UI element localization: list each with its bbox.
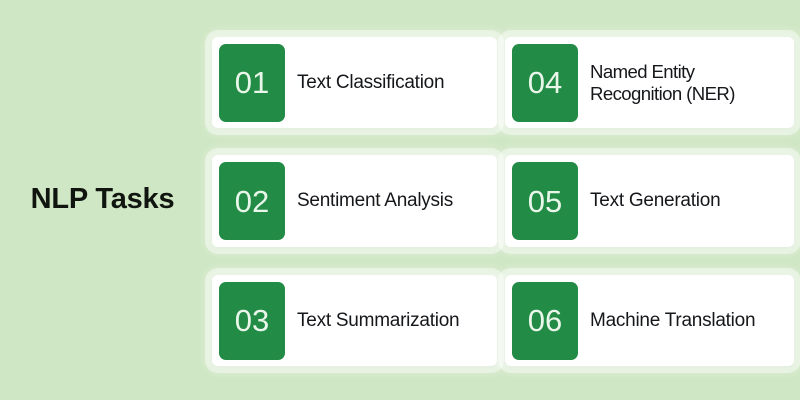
task-card-06[interactable]: 06 Machine Translation: [505, 275, 794, 366]
task-number-badge-03: 03: [219, 282, 285, 360]
task-number-badge-01: 01: [219, 44, 285, 122]
task-card-03[interactable]: 03 Text Summarization: [212, 275, 497, 366]
task-label-05: Text Generation: [578, 190, 794, 212]
task-label-04: Named Entity Recognition (NER): [578, 61, 794, 103]
task-number-badge-05: 05: [512, 162, 578, 240]
task-label-06: Machine Translation: [578, 310, 794, 332]
task-label-02: Sentiment Analysis: [285, 190, 497, 212]
nlp-tasks-infographic: NLP Tasks 01 Text Classification 02 Sent…: [0, 0, 800, 400]
task-number-badge-04: 04: [512, 44, 578, 122]
task-label-01: Text Classification: [285, 72, 497, 94]
task-card-grid: 01 Text Classification 02 Sentiment Anal…: [206, 30, 800, 375]
task-number-badge-02: 02: [219, 162, 285, 240]
task-number-badge-06: 06: [512, 282, 578, 360]
task-card-04[interactable]: 04 Named Entity Recognition (NER): [505, 37, 794, 128]
task-card-01[interactable]: 01 Text Classification: [212, 37, 497, 128]
title-block: NLP Tasks: [0, 0, 205, 400]
task-card-05[interactable]: 05 Text Generation: [505, 155, 794, 247]
task-card-02[interactable]: 02 Sentiment Analysis: [212, 155, 497, 247]
task-label-03: Text Summarization: [285, 310, 497, 332]
page-title: NLP Tasks: [31, 184, 175, 216]
